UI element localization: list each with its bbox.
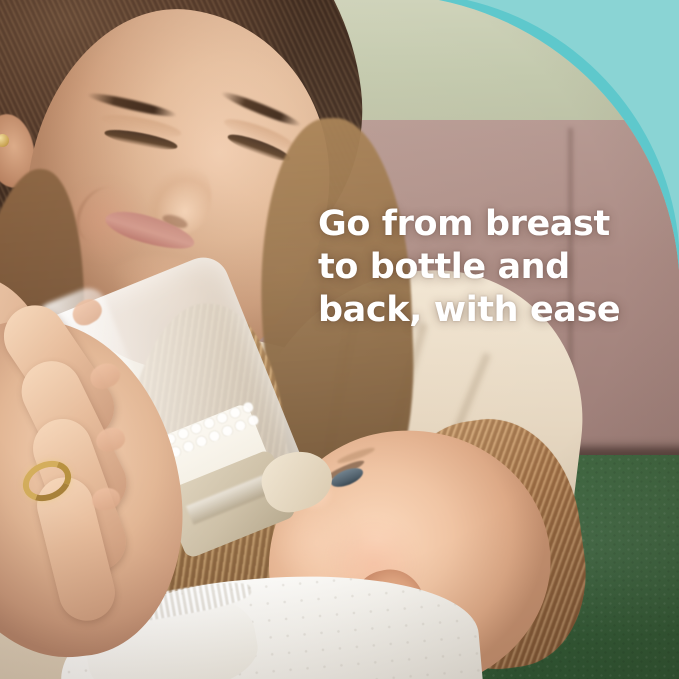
headline-line-1: Go from breast — [318, 203, 658, 246]
headline-line-3: back, with ease — [318, 289, 658, 332]
lifestyle-photo — [0, 0, 679, 679]
headline-line-2: to bottle and — [318, 246, 658, 289]
advertisement-banner: Go from breast to bottle and back, with … — [0, 0, 679, 679]
headline: Go from breast to bottle and back, with … — [318, 203, 658, 332]
